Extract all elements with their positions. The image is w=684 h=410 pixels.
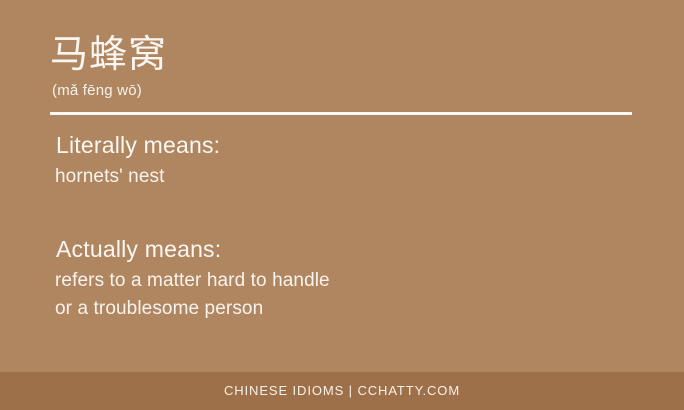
section-heading-actual: Actually means:: [56, 234, 684, 264]
definition-section-literal: Literally means: hornets' nest: [0, 130, 684, 191]
section-line-actual-1: refers to a matter hard to handle: [55, 267, 684, 295]
idiom-card: 马蜂窝 (mǎ fēng wō) Literally means: hornet…: [0, 0, 684, 410]
idiom-pinyin: (mǎ fēng wō): [52, 81, 632, 101]
footer-branding: CHINESE IDIOMS | CCHATTY.COM: [224, 383, 460, 399]
section-heading-literal: Literally means:: [56, 130, 684, 160]
header-divider: [50, 112, 632, 115]
card-header: 马蜂窝 (mǎ fēng wō): [50, 33, 632, 101]
section-line-actual-2: or a troublesome person: [55, 295, 684, 323]
footer-bar: CHINESE IDIOMS | CCHATTY.COM: [0, 372, 684, 410]
section-line-literal-1: hornets' nest: [55, 163, 684, 191]
definition-sections: Literally means: hornets' nest Actually …: [0, 130, 684, 323]
idiom-title: 马蜂窝: [50, 33, 632, 77]
definition-section-actual: Actually means: refers to a matter hard …: [0, 234, 684, 323]
